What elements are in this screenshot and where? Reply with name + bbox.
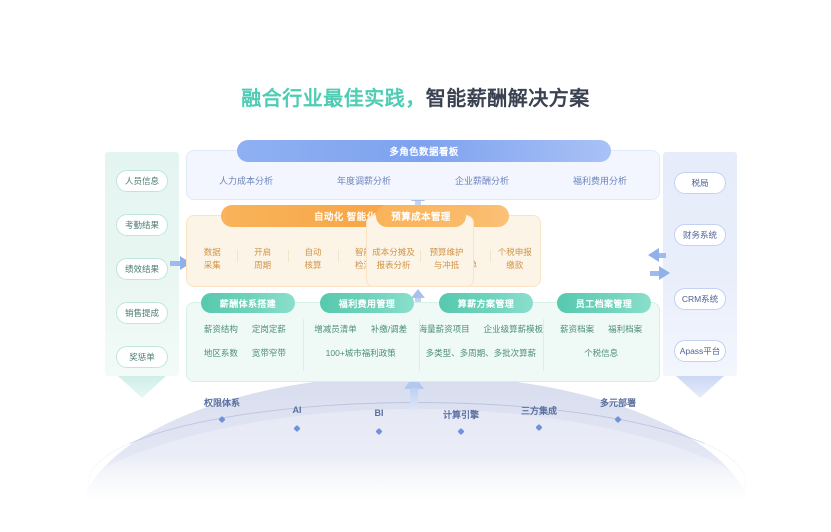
budget-item-allocation-line1: 成本分摊及 [372,247,415,257]
budget-card: 预算成本管理 成本分摊及 报表分析 预算维护 与冲抵 [366,215,474,287]
scheme-item-multi[interactable]: 多类型、多周期、多批次算薪 [426,347,537,359]
automation-item-collect-line1: 数据 [204,247,221,257]
sidebar-item-personnel[interactable]: 人员信息 [116,170,168,192]
infographic-root: 融合行业最佳实践，智能薪酬解决方案 人员信息 考勤结果 绩效结果 销售提成 奖惩… [0,0,831,532]
automation-item-calc-line1: 自动 [305,247,322,257]
benefit-item-city-policy[interactable]: 100+城市福利政策 [326,347,396,359]
sidebar-item-rewards[interactable]: 奖惩单 [116,346,168,368]
comp-item-region[interactable]: 地区系数 [204,347,238,359]
automation-item-tax-line1: 个税申报 [498,247,532,257]
automation-item-collect-line2: 采集 [204,260,221,270]
dashboard-item-benefit[interactable]: 福利费用分析 [541,161,659,189]
right-integration-panel: 税局 财务系统 CRM系统 Apass平台 [663,152,737,376]
foundation-col-scheme: 海量薪资项目 企业级算薪模板 多类型、多周期、多批次算薪 [419,303,544,381]
dashboard-item-enterprise[interactable]: 企业薪酬分析 [423,161,541,189]
automation-item-calc-line2: 核算 [305,260,322,270]
archive-item-tax[interactable]: 个税信息 [584,347,618,359]
right-panel-chevron [676,376,724,398]
automation-item-collect[interactable]: 数据 采集 [187,230,237,272]
scheme-item-template[interactable]: 企业级算薪模板 [484,323,544,335]
page-title-main: 智能薪酬解决方案 [426,88,590,110]
comp-item-grading[interactable]: 定岗定薪 [252,323,286,335]
tech-base-label-4: 三方集成 [521,404,557,417]
dashboard-header-pill: 多角色数据看板 [237,140,611,162]
sidebar-item-finance[interactable]: 财务系统 [674,224,726,246]
right-flow-arrow-out-icon [659,266,670,280]
sidebar-item-apass[interactable]: Apass平台 [674,340,726,362]
foundation-col-archive: 薪资档案 福利档案 个税信息 [543,303,659,381]
budget-item-maintenance-line2: 与冲抵 [434,260,460,270]
archive-item-benefit[interactable]: 福利档案 [608,323,642,335]
benefit-item-adjustment[interactable]: 补缴/调差 [371,323,407,335]
comp-item-band[interactable]: 宽带窄带 [252,347,286,359]
automation-item-cycle-line2: 周期 [254,260,271,270]
automation-item-calc[interactable]: 自动 核算 [288,230,338,272]
tech-base-label-3: 计算引擎 [443,408,479,421]
foundation-col-comp: 薪资结构 定岗定薪 地区系数 宽带窄带 [187,303,303,381]
benefit-item-roster[interactable]: 增减员清单 [314,323,357,335]
sidebar-item-attendance[interactable]: 考勤结果 [116,214,168,236]
dashboard-card: 多角色数据看板 人力成本分析 年度调薪分析 企业薪酬分析 福利费用分析 [186,150,660,200]
dashboard-item-labor-cost[interactable]: 人力成本分析 [187,161,305,189]
sidebar-item-tax-bureau[interactable]: 税局 [674,172,726,194]
foundation-col-benefit: 增减员清单 补缴/调差 100+城市福利政策 [303,303,419,381]
tech-base-label-5: 多元部署 [600,396,636,409]
scheme-item-items[interactable]: 海量薪资项目 [419,323,470,335]
automation-card: 自动化 智能化算薪流程 数据 采集 开启 周期 自动 核算 智能 检测 [186,215,541,287]
page-title-highlight: 融合行业最佳实践， [241,88,426,110]
budget-item-allocation[interactable]: 成本分摊及 报表分析 [367,230,420,272]
budget-header-pill: 预算成本管理 [376,205,466,227]
left-panel-chevron [118,376,166,398]
budget-item-allocation-line2: 报表分析 [376,260,410,270]
sidebar-item-crm[interactable]: CRM系统 [674,288,726,310]
automation-item-cycle[interactable]: 开启 周期 [237,230,287,272]
automation-item-tax-line2: 缴款 [506,260,523,270]
budget-item-maintenance-line1: 预算维护 [429,247,463,257]
automation-item-tax[interactable]: 个税申报 缴款 [490,230,540,272]
tech-base-label-0: 权限体系 [204,396,240,409]
bottom-fade [0,455,831,532]
archive-item-salary[interactable]: 薪资档案 [560,323,594,335]
foundation-card: 薪酬体系搭建 福利费用管理 算薪方案管理 员工档案管理 薪资结构 定岗定薪 地区… [186,302,660,382]
sidebar-item-performance[interactable]: 绩效结果 [116,258,168,280]
automation-item-cycle-line1: 开启 [254,247,271,257]
dashboard-item-annual-adj[interactable]: 年度调薪分析 [305,161,423,189]
budget-item-maintenance[interactable]: 预算维护 与冲抵 [420,230,473,272]
page-title: 融合行业最佳实践，智能薪酬解决方案 [0,82,831,111]
sidebar-item-sales[interactable]: 销售提成 [116,302,168,324]
comp-item-structure[interactable]: 薪资结构 [204,323,238,335]
left-input-panel: 人员信息 考勤结果 绩效结果 销售提成 奖惩单 [105,152,179,376]
tech-base-label-1: AI [293,405,302,415]
tech-base-label-2: BI [375,408,384,418]
